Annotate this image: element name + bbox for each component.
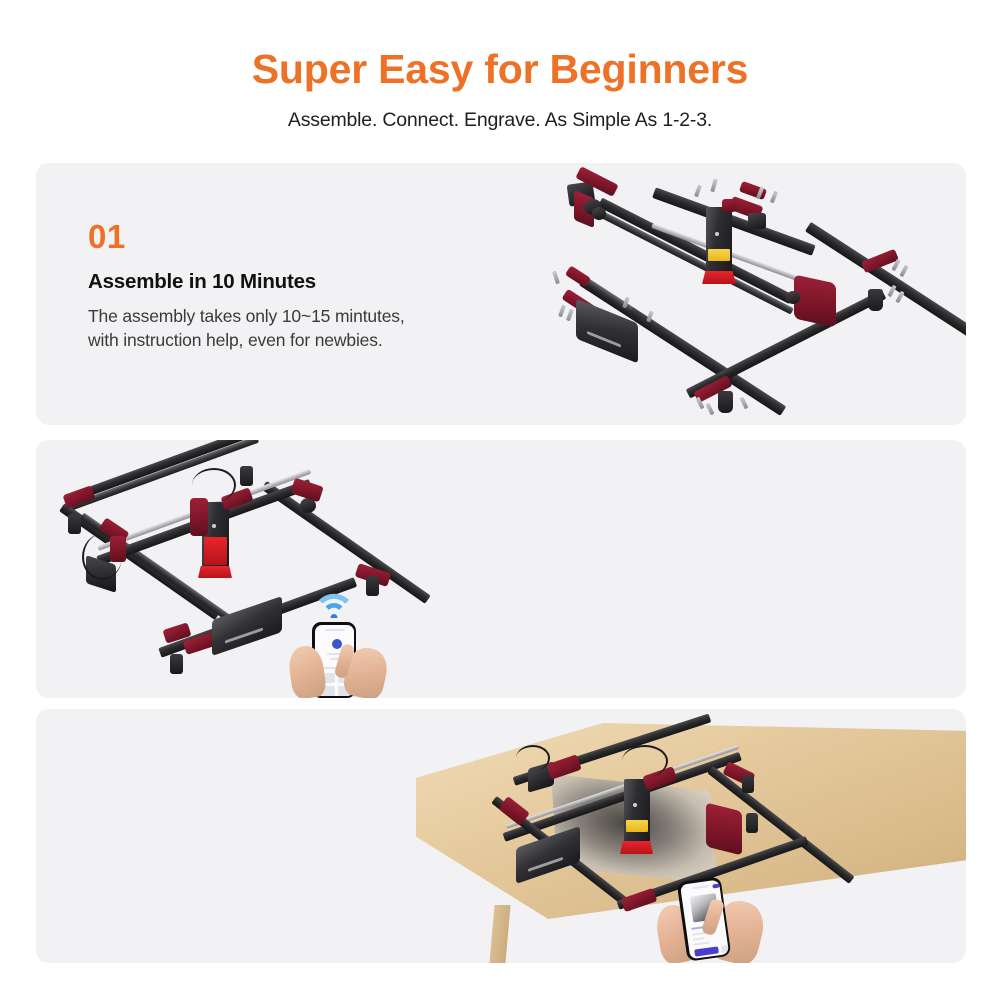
leg-foot-front-left: [170, 654, 183, 674]
step-1-title: Assemble in 10 Minutes: [88, 270, 518, 294]
wifi-icon: [314, 588, 354, 618]
table-leg: [489, 905, 510, 963]
screw: [887, 285, 896, 297]
page-title: Super Easy for Beginners: [0, 46, 1000, 93]
wiring-cable-left: [82, 534, 122, 580]
phone-param-row: [692, 937, 704, 941]
idler-pulley: [786, 291, 800, 304]
screw: [770, 191, 778, 204]
step-1-text: 01 Assemble in 10 Minutes The assembly t…: [88, 220, 518, 353]
leg-foot-front: [718, 391, 733, 413]
algolaser-logo-mark: [715, 232, 719, 236]
steps-list: 01 Assemble in 10 Minutes The assembly t…: [36, 163, 966, 963]
bracket-laser-mount: [190, 498, 208, 536]
phone-status-bar: [325, 629, 345, 631]
bracket-corner-back-right: [290, 478, 323, 502]
leg-foot-right: [868, 289, 883, 311]
phone-connect-badge[interactable]: [712, 883, 719, 888]
app-logo-icon: [332, 639, 342, 649]
motor-laser-carrier: [748, 213, 766, 229]
laser-module: [706, 207, 732, 275]
screw: [740, 397, 749, 410]
step-card-3: 03 Directly Printing with Mobile Phone B…: [36, 709, 966, 963]
laser-shield: [620, 841, 653, 854]
laser-shield: [198, 566, 232, 578]
bracket-tensioner-plate: [706, 803, 742, 856]
bracket-corner-left: [565, 265, 591, 287]
step-3-illustration: [406, 709, 966, 963]
algolaser-logo-mark: [212, 524, 216, 528]
leg-foot-back-right: [742, 775, 754, 793]
laser-shield: [702, 271, 736, 284]
screw: [694, 185, 702, 198]
screw: [710, 179, 717, 193]
controller-box: [212, 596, 282, 656]
wiring-cable-left: [516, 745, 550, 771]
page-subtitle: Assemble. Connect. Engrave. As Simple As…: [0, 109, 1000, 132]
laser-cable: [192, 468, 236, 502]
phone-param-row: [693, 941, 709, 945]
screw: [558, 305, 566, 318]
screw: [899, 265, 908, 277]
phone-start-button[interactable]: [694, 946, 719, 956]
step-1-description-line-2: with instruction help, even for newbies.: [88, 329, 518, 353]
step-1-illustration: [546, 163, 966, 425]
phone-secondary-button[interactable]: [720, 944, 728, 952]
phone-status-bar: [692, 885, 708, 889]
leg-foot-right: [746, 813, 758, 833]
screw: [706, 403, 715, 416]
screw: [895, 291, 904, 303]
pulley-left-2: [592, 207, 606, 220]
step-card-1: 01 Assemble in 10 Minutes The assembly t…: [36, 163, 966, 425]
step-1-number: 01: [88, 220, 518, 253]
step-2-illustration: [36, 440, 456, 698]
leg-foot-back-left: [68, 514, 81, 534]
step-1-description-line-1: The assembly takes only 10~15 mintutes,: [88, 305, 518, 329]
bracket-tensioner-plate: [794, 275, 836, 328]
bracket-laser-top: [722, 199, 736, 212]
page-header: Super Easy for Beginners Assemble. Conne…: [0, 0, 1000, 132]
laser-cable: [622, 745, 668, 777]
laser-warning-label: [626, 820, 648, 832]
laser-module-red-panel: [204, 537, 227, 564]
leg-foot-front-right: [366, 576, 379, 596]
screw: [566, 309, 574, 322]
algolaser-logo-mark: [633, 803, 637, 807]
laser-warning-label: [708, 249, 730, 261]
leg-foot-back-right: [240, 466, 253, 486]
screw: [552, 271, 560, 285]
step-card-2: 02 Wifi Supported Connection Specially d…: [36, 440, 966, 698]
